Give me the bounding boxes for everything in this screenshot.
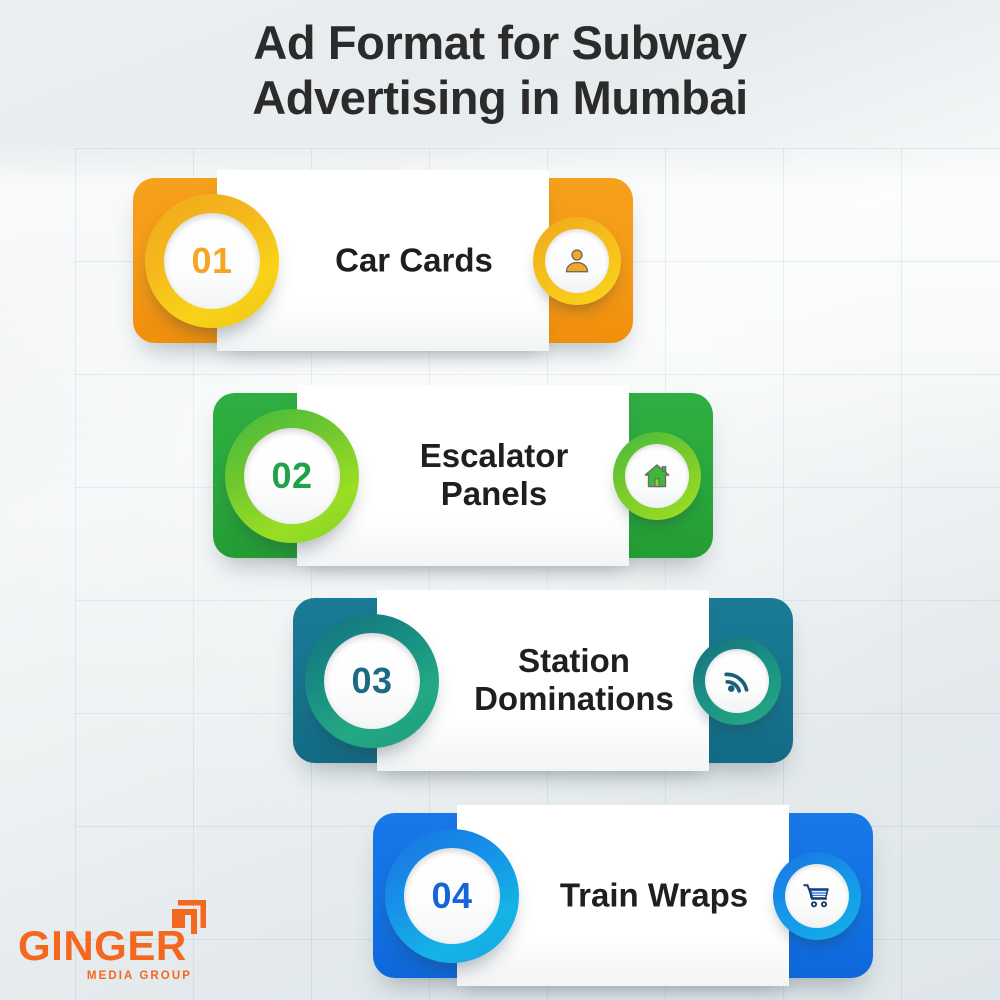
list-item[interactable]: Escalator Panels 02 xyxy=(213,393,713,558)
card-number-badge: 02 xyxy=(225,409,359,543)
shopping-cart-icon xyxy=(802,881,832,911)
brand-logo: GINGER MEDIA GROUP xyxy=(18,925,208,982)
card-number-badge: 04 xyxy=(385,829,519,963)
list-item[interactable]: Car Cards 01 xyxy=(133,178,633,343)
card-number-badge: 01 xyxy=(145,194,279,328)
card-label: Escalator Panels xyxy=(363,437,625,515)
logo-subtext: MEDIA GROUP xyxy=(18,970,208,982)
home-icon xyxy=(642,461,672,491)
person-icon xyxy=(562,246,592,276)
card-icon-inner xyxy=(545,229,609,293)
card-number-inner: 02 xyxy=(244,428,340,524)
card-label: Train Wraps xyxy=(523,876,785,915)
card-icon-badge[interactable] xyxy=(533,217,621,305)
card-number-inner: 03 xyxy=(324,633,420,729)
page-title-line-2: Advertising in Mumbai xyxy=(0,71,1000,126)
card-number: 02 xyxy=(271,455,312,497)
card-icon-badge[interactable] xyxy=(693,637,781,725)
card-icon-inner xyxy=(785,864,849,928)
rss-signal-icon xyxy=(722,666,752,696)
card-number-inner: 01 xyxy=(164,213,260,309)
card-icon-badge[interactable] xyxy=(773,852,861,940)
card-number: 03 xyxy=(351,660,392,702)
card-icon-inner xyxy=(705,649,769,713)
card-label: Station Dominations xyxy=(443,642,705,720)
card-number: 04 xyxy=(431,875,472,917)
page-title-line-1: Ad Format for Subway xyxy=(0,16,1000,71)
list-item[interactable]: Train Wraps 04 xyxy=(373,813,873,978)
card-icon-badge[interactable] xyxy=(613,432,701,520)
page-title: Ad Format for Subway Advertising in Mumb… xyxy=(0,16,1000,126)
card-number-inner: 04 xyxy=(404,848,500,944)
card-number-badge: 03 xyxy=(305,614,439,748)
list-item[interactable]: Station Dominations 03 xyxy=(293,598,793,763)
ginger-logo-mark-icon xyxy=(168,895,210,942)
card-icon-inner xyxy=(625,444,689,508)
card-number: 01 xyxy=(191,240,232,282)
card-label: Car Cards xyxy=(283,241,545,280)
